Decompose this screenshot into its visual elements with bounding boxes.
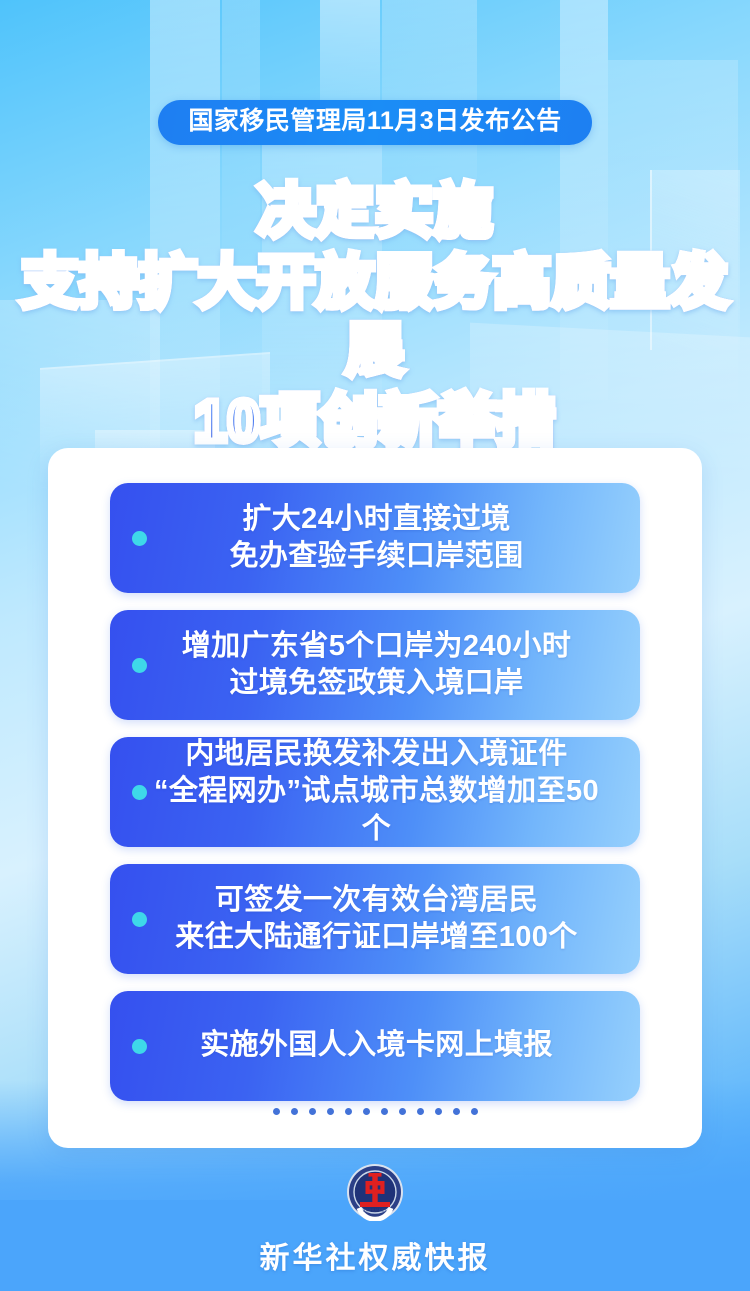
divider-dot: [435, 1108, 442, 1115]
divider-dot: [453, 1108, 460, 1115]
measure-text: 内地居民换发补发出入境证件 “全程网办”试点城市总数增加至50个: [147, 736, 640, 847]
dotted-divider: [48, 1108, 702, 1115]
divider-dot: [471, 1108, 478, 1115]
headline-line-1: 决定实施: [0, 178, 750, 245]
measure-text: 实施外国人入境卡网上填报: [147, 1027, 640, 1064]
page-title: 决定实施 支持扩大开放服务高质量发展 10项创新举措: [0, 178, 750, 455]
list-item[interactable]: 内地居民换发补发出入境证件 “全程网办”试点城市总数增加至50个: [110, 737, 640, 847]
divider-dot: [345, 1108, 352, 1115]
divider-dot: [399, 1108, 406, 1115]
divider-dot: [381, 1108, 388, 1115]
bullet-dot-icon: [132, 785, 147, 800]
xinhua-emblem-icon: XINHUANET: [346, 1163, 404, 1221]
list-item[interactable]: 增加广东省5个口岸为240小时 过境免签政策入境口岸: [110, 610, 640, 720]
poster-root: 国家移民管理局11月3日发布公告 决定实施 支持扩大开放服务高质量发展 10项创…: [0, 0, 750, 1291]
divider-dot: [273, 1108, 280, 1115]
divider-dot: [309, 1108, 316, 1115]
measures-list: 扩大24小时直接过境 免办查验手续口岸范围 增加广东省5个口岸为240小时 过境…: [110, 483, 640, 1118]
headline-line-3: 10项创新举措: [0, 388, 750, 455]
divider-dot: [291, 1108, 298, 1115]
bullet-dot-icon: [132, 658, 147, 673]
list-item[interactable]: 扩大24小时直接过境 免办查验手续口岸范围: [110, 483, 640, 593]
measure-text: 扩大24小时直接过境 免办查验手续口岸范围: [147, 501, 640, 575]
bullet-dot-icon: [132, 1039, 147, 1054]
measures-panel: 扩大24小时直接过境 免办查验手续口岸范围 增加广东省5个口岸为240小时 过境…: [48, 448, 702, 1148]
announcement-badge-wrap: 国家移民管理局11月3日发布公告: [0, 100, 750, 145]
divider-dot: [363, 1108, 370, 1115]
announcement-badge: 国家移民管理局11月3日发布公告: [158, 100, 591, 145]
svg-text:XINHUANET: XINHUANET: [363, 1207, 388, 1212]
measure-text: 增加广东省5个口岸为240小时 过境免签政策入境口岸: [147, 628, 640, 702]
headline-line-2: 支持扩大开放服务高质量发展: [0, 249, 750, 384]
bullet-dot-icon: [132, 912, 147, 927]
list-item[interactable]: 可签发一次有效台湾居民 来往大陆通行证口岸增至100个: [110, 864, 640, 974]
footer-agency-label: 新华社权威快报: [0, 1233, 750, 1277]
divider-dot: [327, 1108, 334, 1115]
footer: XINHUANET 新华社权威快报: [0, 1163, 750, 1277]
list-item[interactable]: 实施外国人入境卡网上填报: [110, 991, 640, 1101]
measure-text: 可签发一次有效台湾居民 来往大陆通行证口岸增至100个: [147, 882, 640, 956]
divider-dot: [417, 1108, 424, 1115]
bullet-dot-icon: [132, 531, 147, 546]
